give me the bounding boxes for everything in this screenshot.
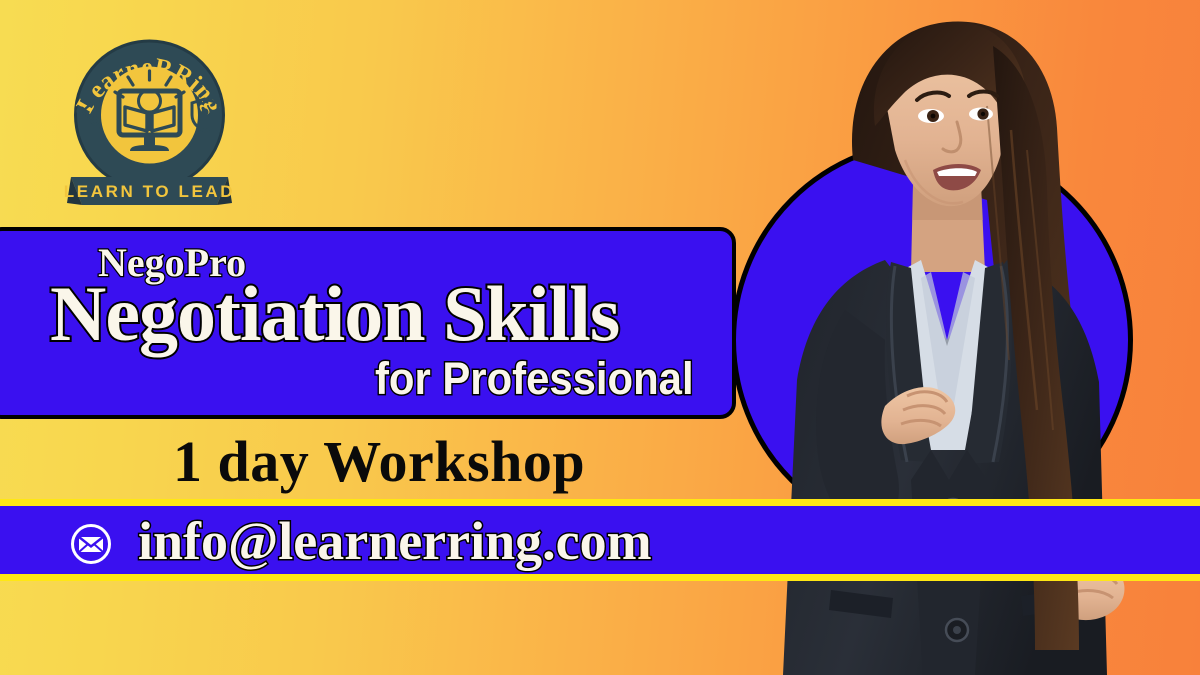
workshop-duration: 1 day Workshop [173,428,585,495]
logo-ribbon-text: LEARN TO LEAD [64,182,235,201]
contact-bar: info@learnerring.com [0,499,1200,581]
learnerring-logo: LearneRRing [57,27,242,212]
title-card: NegoPro Negotiation Skills for Professio… [0,227,736,419]
promo-banner: LearneRRing [0,0,1200,675]
contact-email[interactable]: info@learnerring.com [138,510,652,572]
page-title: Negotiation Skills [50,269,619,359]
subtitle-text: for Professional [375,353,694,405]
envelope-icon [70,523,112,565]
